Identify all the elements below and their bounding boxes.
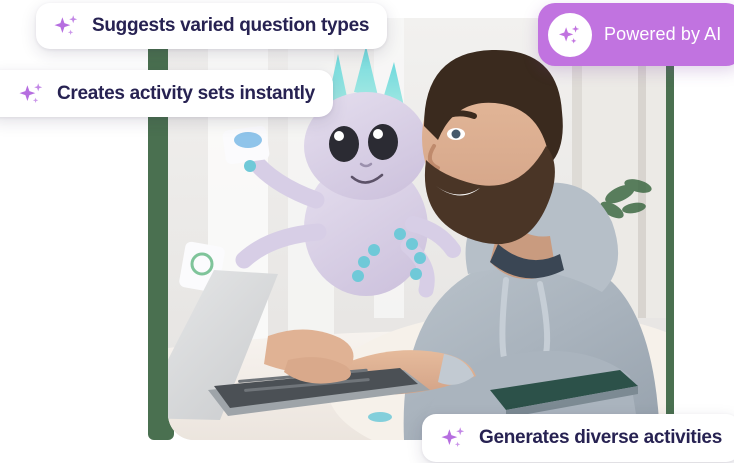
promo-composition: Suggests varied question types Creates a… xyxy=(0,0,734,463)
sparkles-icon xyxy=(53,12,81,40)
sparkles-icon xyxy=(548,13,592,57)
badge-label: Creates activity sets instantly xyxy=(57,83,315,105)
badge-label: Powered by AI xyxy=(604,24,721,45)
badge-label: Suggests varied question types xyxy=(92,15,369,37)
badge-creates-activity-sets-instantly[interactable]: Creates activity sets instantly xyxy=(0,70,333,117)
sparkles-icon xyxy=(18,80,46,108)
badge-suggests-varied-question-types[interactable]: Suggests varied question types xyxy=(36,3,387,49)
mascot-foot-accent xyxy=(368,412,392,422)
badge-label: Generates diverse activities xyxy=(479,427,722,449)
sparkles-icon xyxy=(440,424,468,452)
badge-generates-diverse-activities[interactable]: Generates diverse activities xyxy=(422,414,734,462)
badge-powered-by-ai[interactable]: Powered by AI xyxy=(538,3,734,66)
